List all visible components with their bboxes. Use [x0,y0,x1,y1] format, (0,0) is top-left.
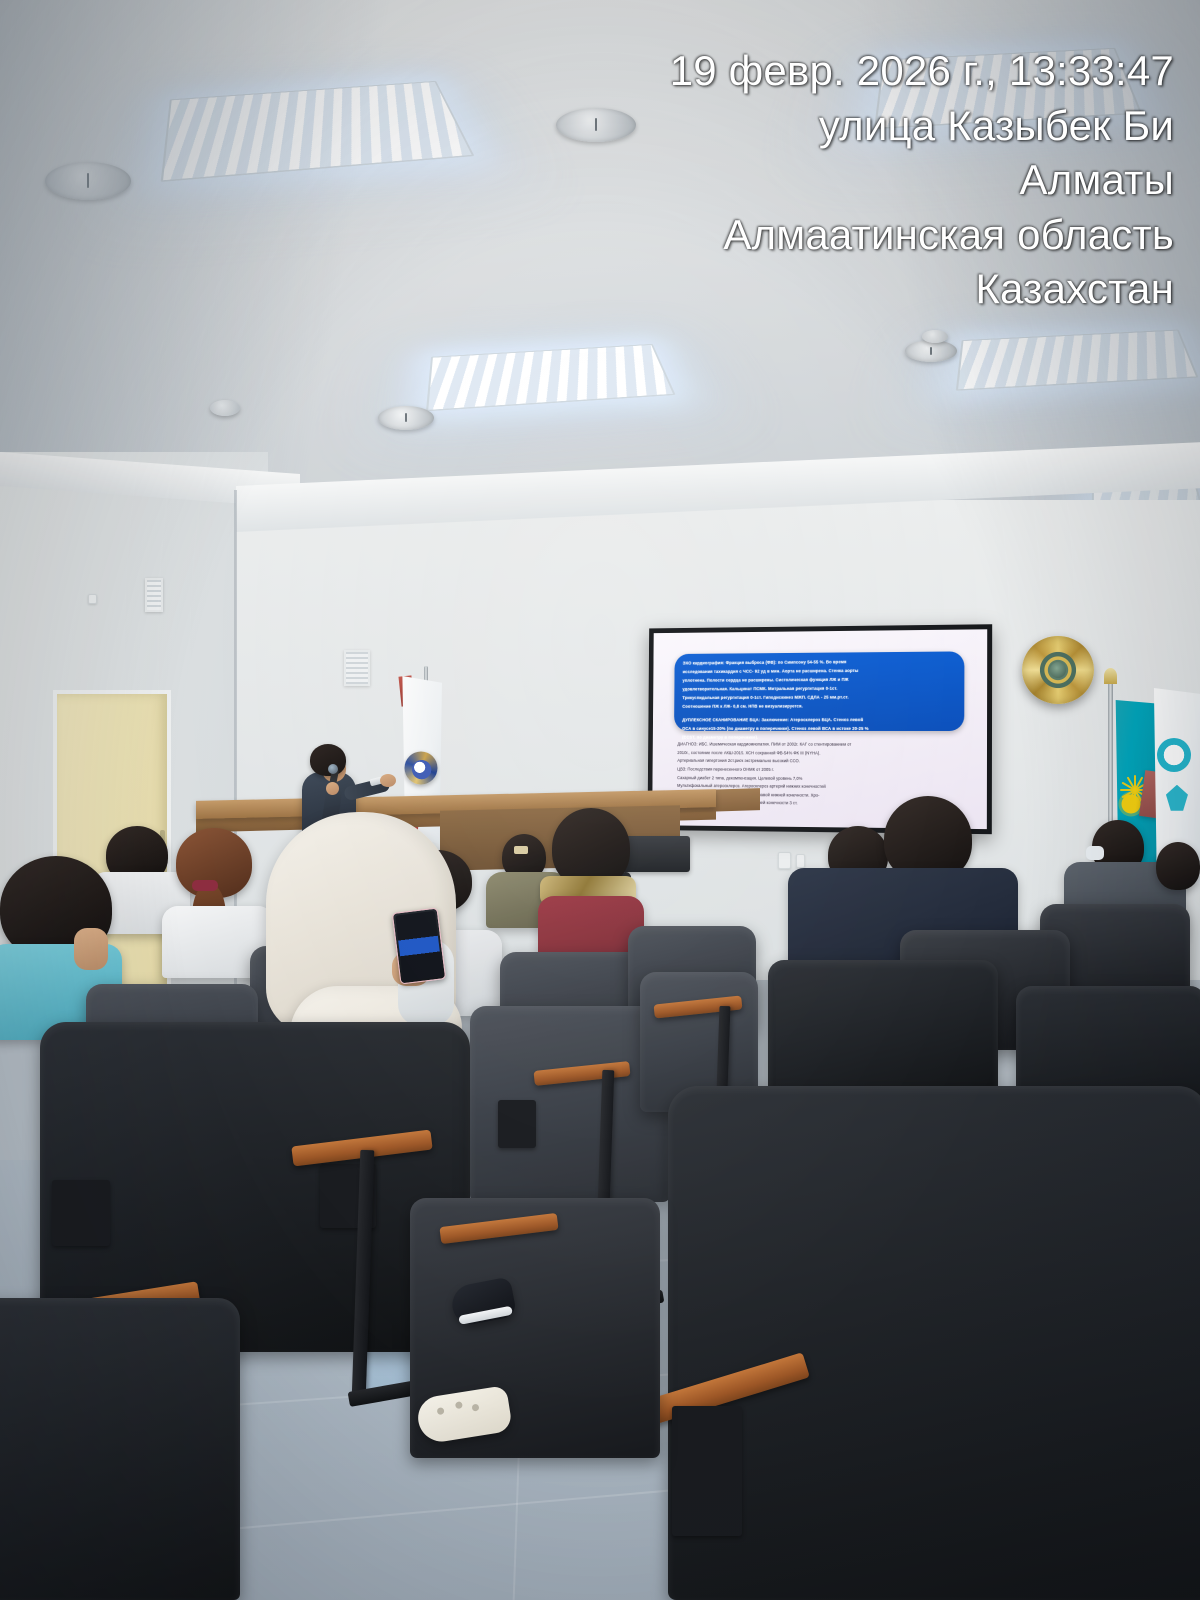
slide-body-line: Артериальная гипертония 2ст.риск экстрем… [677,758,964,765]
slide-body-line: 2010г., состояние после АКШ-2015. ХСН со… [677,750,964,757]
audience-hair-clip-icon [514,846,528,854]
speaker-right-hand [380,774,396,787]
ceiling-speaker-2 [556,108,636,142]
wall-socket-1[interactable] [88,594,97,604]
audience-hair-tie-icon [192,880,218,891]
slide-hl-line: удовлетворительная. Кальцинат ПСМК. Митр… [682,685,955,693]
seat-bracket [672,1406,742,1536]
seat-bracket [52,1180,110,1246]
audience-mask-icon [1086,846,1104,860]
slide-hl-line: ДУПЛЕКСНОЕ СКАНИРОВАНИЕ БЦА: Заключение:… [682,717,955,724]
white-flag-emblem-icon [1157,738,1191,772]
wall-socket-2[interactable] [778,852,791,869]
phone-screen[interactable] [395,911,443,981]
slide-hl-spacer [682,712,955,715]
photo-canvas: ЭХО кардиография: Фракция выброса (ФВ): … [0,0,1200,1600]
slide-hl-line: исследования тахикардия с ЧСС- 92 уд в м… [683,667,956,675]
audience-hand [74,928,108,970]
wall-vent-1 [145,578,163,612]
flagpole-finial-kz-icon [1104,668,1117,684]
slide-hl-line: Трикуспидальная регургитация 0-1ст. Гипо… [682,694,955,701]
slide-body-line: ЦВЗ: Последствия перенесенного ОНМК от 2… [677,766,964,774]
desk-equipment-box [620,836,690,872]
wall-socket-3[interactable] [796,854,805,868]
speaker-flag-crest-icon [404,752,437,785]
smartphone[interactable] [392,907,446,984]
slide-body-line: Сахарный диабет 2 типа, декомпенсация. Ц… [677,775,964,783]
slide-hl-line: ЭХО кардиография: Фракция выброса (ФВ): … [683,658,956,666]
slide-hl-line: уплотнена. Полости сердца не расширены. … [683,676,956,684]
slide-hl-line: ОСА в синусе15-20% (по диаметру в попере… [682,726,955,732]
speaker-left-hand [326,782,339,795]
seat-bracket [498,1100,536,1148]
wall-vent-2 [344,650,370,686]
auditorium-seat[interactable] [0,1298,240,1600]
kazakhstan-coat-of-arms-icon [1022,636,1094,704]
slide-hl-line: Соотношение ПЖ к ЛЖ- 0,8 см. НПВ не визу… [682,703,955,710]
white-flag-emblem-shape-icon [1166,785,1188,811]
slide-highlight-box: ЭХО кардиография: Фракция выброса (ФВ): … [674,651,965,731]
auditorium-seat[interactable] [668,1086,1200,1600]
speaker-microphone-head-icon [328,764,338,774]
ceiling-lamp-2 [426,344,676,412]
audience-head [1156,842,1200,890]
slide-body-line: ДИАГНОЗ: ИБС. Ишемическая кардиомиопатия… [677,742,964,749]
